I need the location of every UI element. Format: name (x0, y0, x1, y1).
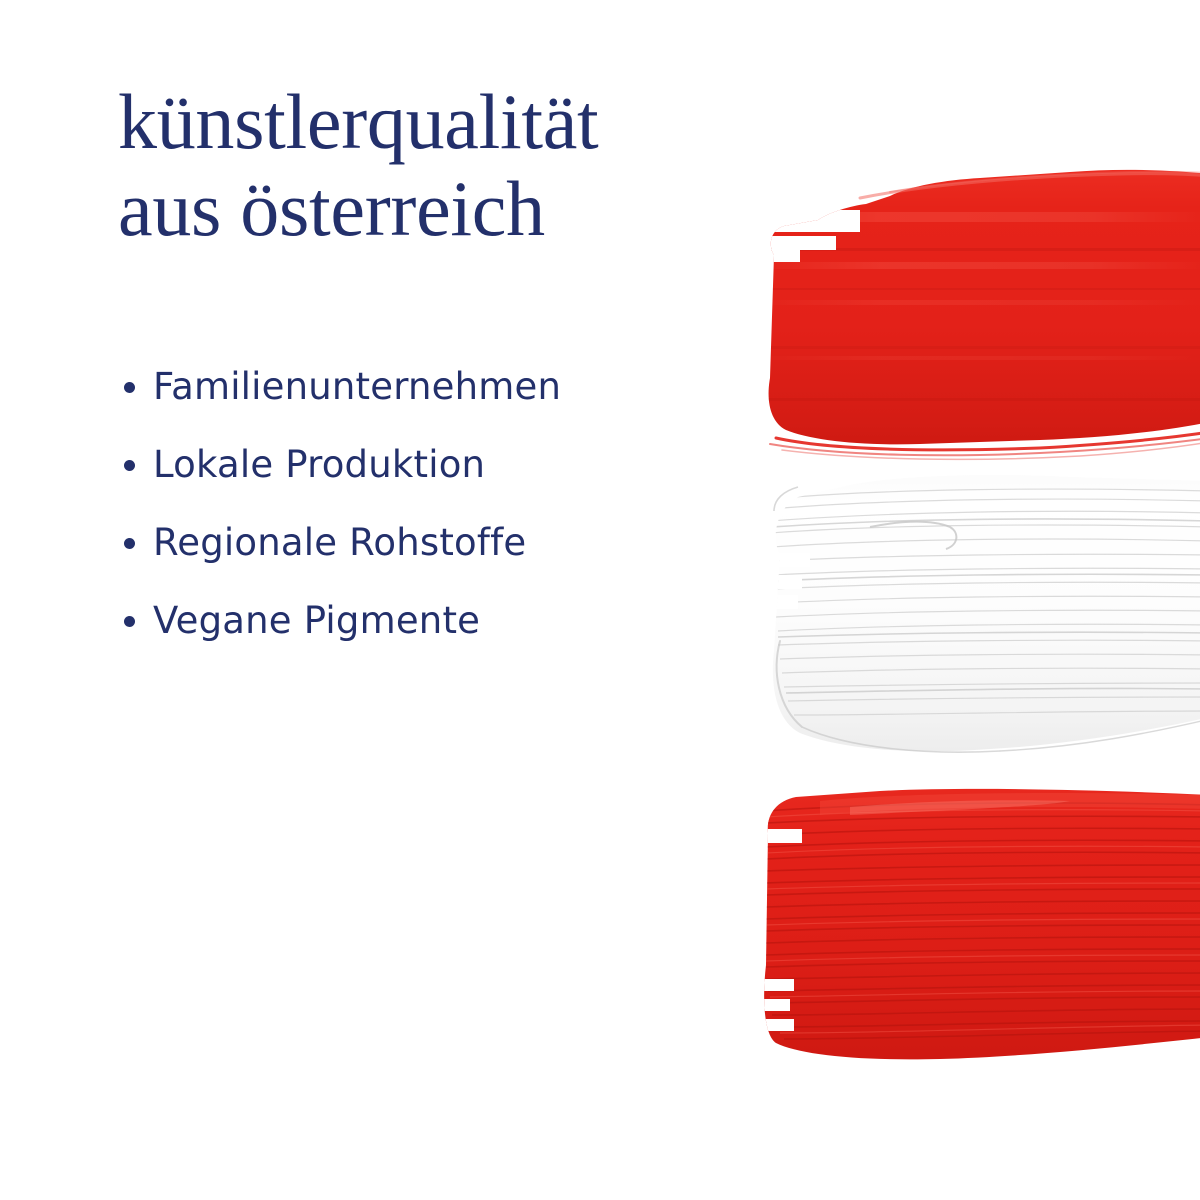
middle-white-brush-stroke (740, 465, 1200, 775)
bullet-dot-icon (124, 616, 135, 627)
list-item: Regionale Rohstoffe (124, 524, 764, 602)
page-title: künstlerqualität aus österreich (118, 78, 778, 253)
feature-label: Regionale Rohstoffe (153, 524, 526, 561)
list-item: Lokale Produktion (124, 446, 764, 524)
poster-canvas: künstlerqualität aus österreich Familien… (0, 0, 1200, 1200)
top-red-brush-stroke (740, 150, 1200, 470)
feature-label: Familienunternehmen (153, 368, 561, 405)
feature-list: Familienunternehmen Lokale Produktion Re… (124, 368, 764, 680)
feature-label: Vegane Pigmente (153, 602, 480, 639)
text-column: künstlerqualität aus österreich Familien… (118, 78, 778, 253)
list-item: Vegane Pigmente (124, 602, 764, 680)
bottom-red-brush-stroke (740, 785, 1200, 1075)
bullet-dot-icon (124, 538, 135, 549)
bullet-dot-icon (124, 382, 135, 393)
feature-label: Lokale Produktion (153, 446, 485, 483)
bullet-dot-icon (124, 460, 135, 471)
list-item: Familienunternehmen (124, 368, 764, 446)
